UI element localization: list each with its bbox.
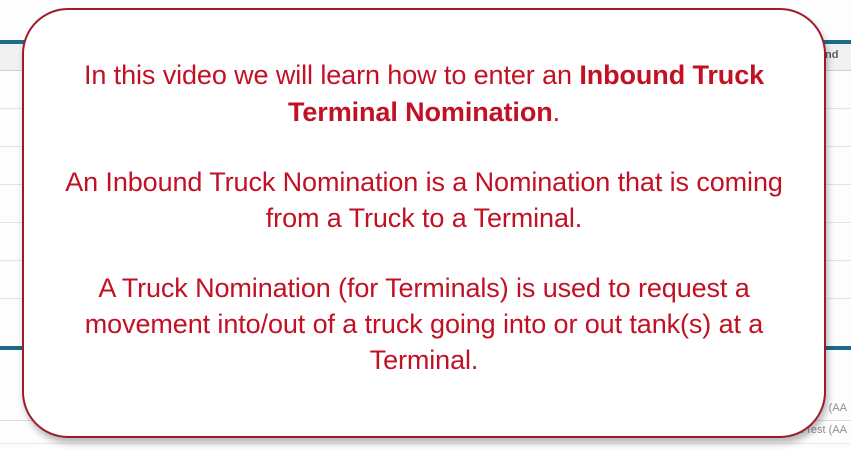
callout-paragraph-purpose: A Truck Nomination (for Terminals) is us… [44, 270, 804, 379]
column-header-left-partial[interactable]: te [0, 49, 16, 61]
callout-paragraph-definition: An Inbound Truck Nomination is a Nominat… [54, 164, 794, 236]
callout-paragraph-intro: In this video we will learn how to enter… [50, 57, 798, 129]
callout-body-text: An Inbound Truck Nomination is a Nominat… [65, 167, 783, 233]
callout-body-text: In this video we will learn how to enter… [84, 60, 579, 90]
callout-body-text: . [553, 97, 560, 127]
column-header-right-partial[interactable]: nd [825, 49, 847, 61]
video-intro-callout: In this video we will learn how to enter… [22, 8, 826, 438]
grid-footer-value-1: (AA [829, 402, 847, 414]
grid-footer-separator-bottom [0, 443, 851, 444]
callout-body-text: A Truck Nomination (for Terminals) is us… [85, 273, 763, 375]
